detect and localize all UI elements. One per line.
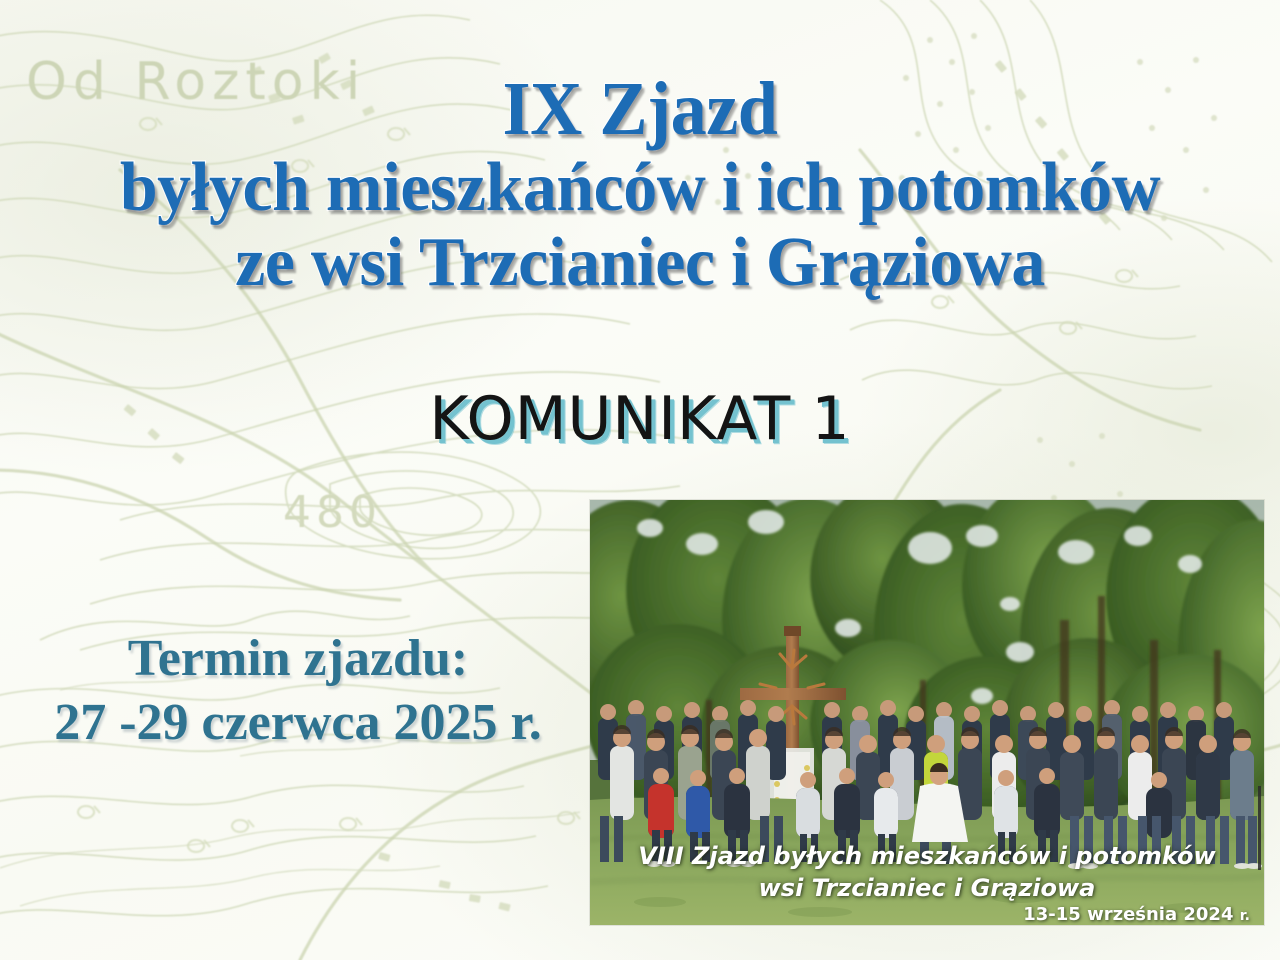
map-label-od-roztoki: Od Roztoki [26, 52, 366, 112]
map-label-contour-480: 480 [283, 487, 382, 538]
poster-canvas: Od Roztoki 480 IX Zjazd byłych mieszkańc… [0, 0, 1280, 960]
group-photo: VIII Zjazd byłych mieszkańców i potomków… [590, 500, 1264, 925]
